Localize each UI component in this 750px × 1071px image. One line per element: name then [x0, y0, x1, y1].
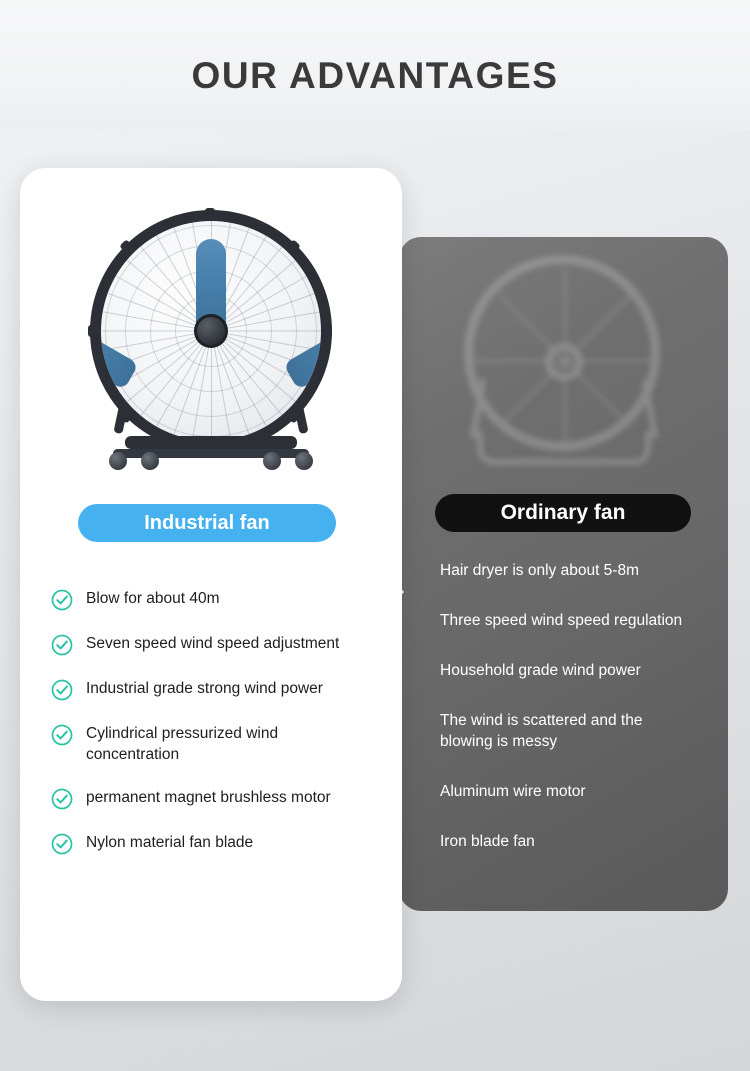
- list-item: Three speed wind speed regulation: [440, 610, 730, 631]
- check-circle-icon: [51, 679, 73, 701]
- fan-wheel: [141, 452, 159, 470]
- list-item-label: permanent magnet brushless motor: [86, 787, 331, 808]
- list-item: Nylon material fan blade: [51, 832, 381, 855]
- list-item: Cylindrical pressurized wind concentrati…: [51, 723, 381, 765]
- industrial-fan-card: Industrial fan Blow for about 40m Seven …: [20, 168, 402, 1001]
- comparison-arrow-icon: [390, 578, 404, 606]
- fan-wheel: [109, 452, 127, 470]
- advantages-page: OUR ADVANTAGES Ordinary fan Hair dr: [0, 0, 750, 1071]
- fan-wheel: [263, 452, 281, 470]
- list-item: permanent magnet brushless motor: [51, 787, 381, 810]
- ghost-fan-base: [477, 431, 651, 465]
- fan-base: [107, 430, 315, 470]
- page-title: OUR ADVANTAGES: [0, 55, 750, 97]
- list-item: Aluminum wire motor: [440, 781, 730, 802]
- check-circle-icon: [51, 634, 73, 656]
- check-circle-icon: [51, 833, 73, 855]
- list-item-label: Industrial grade strong wind power: [86, 678, 323, 699]
- list-item: Blow for about 40m: [51, 588, 381, 611]
- industrial-fan-photo: [77, 210, 345, 470]
- list-item-label: Nylon material fan blade: [86, 832, 253, 853]
- fan-grille: [101, 221, 321, 441]
- check-circle-icon: [51, 788, 73, 810]
- check-circle-icon: [51, 724, 73, 746]
- list-item: The wind is scattered and the blowing is…: [440, 710, 730, 752]
- fan-hub: [194, 314, 228, 348]
- list-item: Seven speed wind speed adjustment: [51, 633, 381, 656]
- list-item: Household grade wind power: [440, 660, 730, 681]
- list-item: Iron blade fan: [440, 831, 730, 852]
- check-circle-icon: [51, 589, 73, 611]
- list-item: Industrial grade strong wind power: [51, 678, 381, 701]
- ordinary-fan-photo: [399, 237, 728, 469]
- ordinary-fan-card: Ordinary fan Hair dryer is only about 5-…: [399, 237, 728, 911]
- ghost-fan-illustration: [459, 255, 669, 467]
- ordinary-fan-feature-list: Hair dryer is only about 5-8m Three spee…: [440, 560, 730, 881]
- list-item-label: Cylindrical pressurized wind concentrati…: [86, 723, 278, 765]
- fan-wheel: [295, 452, 313, 470]
- list-item-label: Blow for about 40m: [86, 588, 220, 609]
- industrial-fan-label: Industrial fan: [78, 504, 336, 542]
- list-item-label: Seven speed wind speed adjustment: [86, 633, 339, 654]
- list-item: Hair dryer is only about 5-8m: [440, 560, 730, 581]
- ordinary-fan-label: Ordinary fan: [435, 494, 691, 532]
- industrial-fan-feature-list: Blow for about 40m Seven speed wind spee…: [51, 588, 381, 877]
